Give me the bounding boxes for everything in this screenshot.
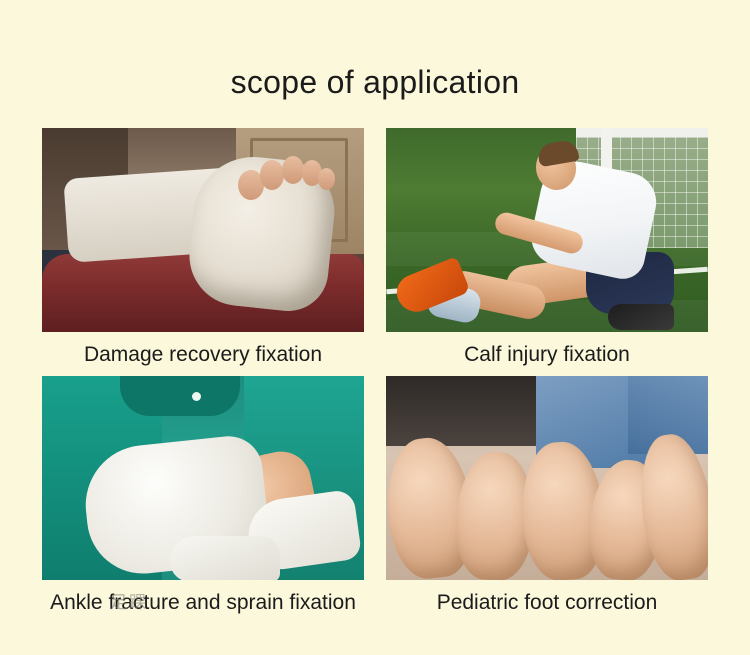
- grid-row-top: Damage recovery fixation: [42, 128, 708, 375]
- caption-damage-recovery: Damage recovery fixation: [42, 332, 364, 375]
- page-title: scope of application: [0, 64, 750, 101]
- photo2-goal-crossbar: [576, 128, 708, 137]
- image-grid: Damage recovery fixation: [42, 128, 708, 623]
- photo3-gloved-hand-lower: [170, 536, 280, 580]
- photo1-toe-5: [318, 168, 335, 190]
- photo1-toes: [238, 156, 334, 200]
- grid-cell-calf-injury: Calf injury fixation: [386, 128, 708, 375]
- photo-damage-recovery: [42, 128, 364, 332]
- grid-cell-pediatric-foot: Pediatric foot correction: [386, 376, 708, 623]
- watermark: 足踝: [110, 588, 148, 613]
- poster-root: scope of application: [0, 0, 750, 655]
- photo1-toe-2: [260, 160, 284, 190]
- grid-cell-damage-recovery: Damage recovery fixation: [42, 128, 364, 375]
- caption-pediatric-foot: Pediatric foot correction: [386, 580, 708, 623]
- photo-ankle-fracture: [42, 376, 364, 580]
- caption-calf-injury: Calf injury fixation: [386, 332, 708, 375]
- grid-cell-ankle-fracture: Ankle fracture and sprain fixation: [42, 376, 364, 623]
- photo2-black-boot: [608, 304, 674, 330]
- caption-ankle-fracture: Ankle fracture and sprain fixation: [42, 580, 364, 623]
- grid-row-bottom: Ankle fracture and sprain fixation Pedia…: [42, 376, 708, 623]
- photo3-collar: [120, 376, 240, 416]
- photo-calf-injury: [386, 128, 708, 332]
- photo1-toe-3: [282, 156, 304, 184]
- photo3-button: [192, 392, 201, 401]
- photo-pediatric-foot: [386, 376, 708, 580]
- photo4-dark-clothing: [386, 376, 536, 446]
